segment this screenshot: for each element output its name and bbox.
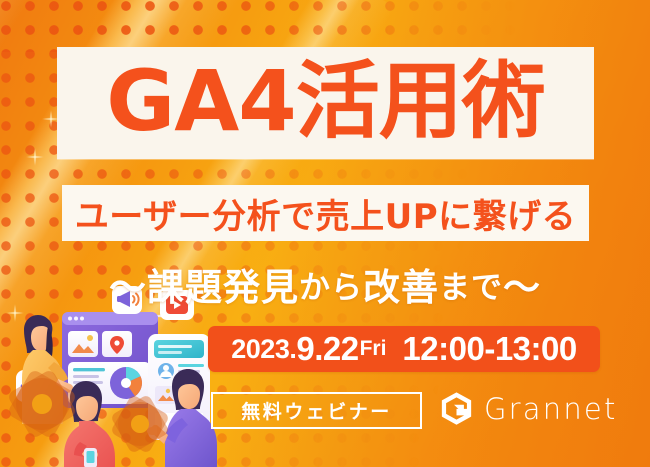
tagline-particle-from: から <box>299 262 363 307</box>
page-title: GA4活用術 <box>106 59 544 143</box>
tagline-open-mark: 〜 <box>109 257 147 311</box>
schedule-day: 9.22 <box>296 330 358 368</box>
schedule-time: 12:00-13:00 <box>402 330 576 368</box>
schedule-weekday: Fri <box>360 337 387 361</box>
tagline-close-mark: 〜 <box>503 257 541 311</box>
tagline-particle-until: まで <box>439 262 503 307</box>
brand-name: Grannet <box>484 392 618 426</box>
grannet-hexagon-logo-icon <box>438 390 475 427</box>
free-webinar-label: 無料ウェビナー <box>241 397 392 424</box>
subtitle-panel: ユーザー分析で売上UPに繋げる <box>62 185 589 241</box>
subtitle-text: ユーザー分析で売上UPに繋げる <box>75 189 576 238</box>
free-webinar-badge: 無料ウェビナー <box>211 392 422 429</box>
schedule-year: 2023. <box>231 334 296 365</box>
tagline-keyword-improvement: 改善 <box>363 257 439 311</box>
tagline-keyword-discovery: 課題発見 <box>147 257 299 311</box>
webinar-banner: GA4活用術 ユーザー分析で売上UPに繋げる 〜 課題発見 から 改善 まで 〜… <box>0 0 650 467</box>
schedule-bar: 2023. 9.22 Fri 12:00-13:00 <box>208 326 600 372</box>
title-panel: GA4活用術 <box>57 47 594 159</box>
tagline: 〜 課題発見 から 改善 まで 〜 <box>0 258 650 310</box>
brand-lockup: Grannet <box>438 390 618 427</box>
